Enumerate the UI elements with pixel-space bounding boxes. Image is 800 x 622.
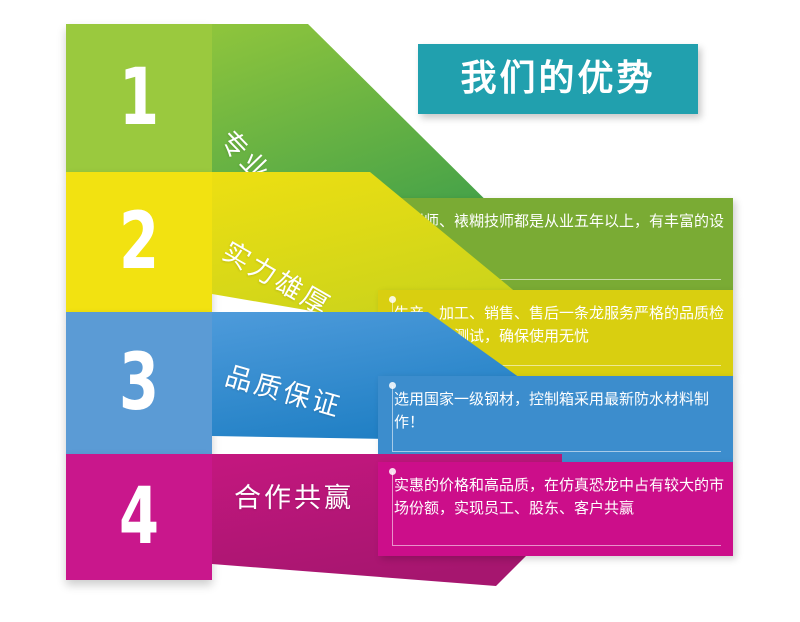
- ribbon-label-4: 合作共赢: [234, 476, 354, 515]
- number-plate-3: 3: [66, 312, 212, 454]
- step-number-3: 3: [79, 344, 199, 422]
- description-card-3: 选用国家一级钢材，控制箱采用最新防水材料制作！: [378, 376, 733, 462]
- description-card-4: 实惠的价格和高品质，在仿真恐龙中占有较大的市场份额，实现员工、股东、客户共赢: [378, 462, 733, 556]
- card-description-3: 选用国家一级钢材，控制箱采用最新防水材料制作！: [394, 388, 725, 435]
- step-number-4: 4: [79, 478, 199, 556]
- advantage-row-4: 4 合作共赢 实惠的价格和高品质，在仿真恐龙中占有较大的市场份额，实现员工、股东…: [0, 0, 800, 160]
- number-plate-2: 2: [66, 172, 212, 312]
- card-description-4: 实惠的价格和高品质，在仿真恐龙中占有较大的市场份额，实现员工、股东、客户共赢: [394, 474, 725, 521]
- step-number-2: 2: [79, 203, 199, 281]
- infographic-canvas: 我们的优势 1 专业的团队 造型师、裱糊技师都是从业五年以上，有丰富的设计经验 …: [0, 0, 800, 622]
- number-plate-4: 4: [66, 454, 212, 580]
